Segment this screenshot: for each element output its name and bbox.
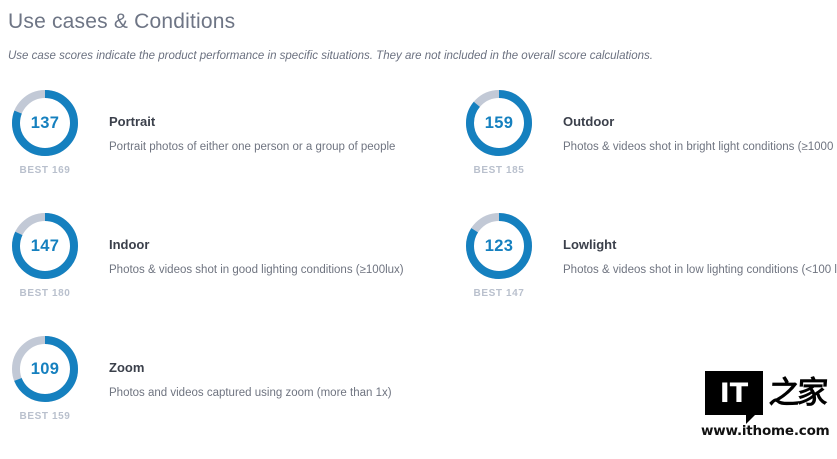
- best-score-label: BEST 159: [11, 411, 79, 422]
- donut-ring: 159: [466, 90, 532, 156]
- donut-ring: 147: [12, 213, 78, 279]
- ithome-logo-text: IT: [720, 380, 748, 407]
- use-case-description: Photos & videos shot in good lighting co…: [109, 254, 404, 278]
- use-case-portrait: 137 BEST 169 Portrait Portrait photos of…: [0, 90, 458, 213]
- best-score-label: BEST 169: [11, 165, 79, 176]
- best-score-label: BEST 185: [465, 165, 533, 176]
- use-case-description: Photos & videos shot in low lighting con…: [563, 254, 837, 278]
- speech-bubble-icon: IT: [705, 371, 763, 415]
- panel-header: Use cases & Conditions Use case scores i…: [8, 8, 828, 64]
- use-case-name: Zoom: [109, 359, 392, 377]
- use-case-indoor: 147 BEST 180 Indoor Photos & videos shot…: [0, 213, 458, 336]
- score-gauge: 109 BEST 159: [11, 336, 79, 422]
- use-case-description: Photos & videos shot in bright light con…: [563, 131, 837, 155]
- use-case-name: Outdoor: [563, 113, 837, 131]
- donut-ring: 109: [12, 336, 78, 402]
- score-gauge: 137 BEST 169: [11, 90, 79, 176]
- score-gauge: 147 BEST 180: [11, 213, 79, 299]
- donut-ring: 123: [466, 213, 532, 279]
- score-value: 159: [466, 90, 532, 156]
- use-case-description: Photos and videos captured using zoom (m…: [109, 377, 392, 401]
- use-case-name: Indoor: [109, 236, 404, 254]
- score-value: 137: [12, 90, 78, 156]
- page-subtitle: Use case scores indicate the product per…: [8, 36, 828, 64]
- best-score-label: BEST 180: [11, 288, 79, 299]
- ithome-url: www.ithome.com: [701, 419, 829, 439]
- use-case-text: Indoor Photos & videos shot in good ligh…: [79, 213, 404, 278]
- use-case-description: Portrait photos of either one person or …: [109, 131, 395, 155]
- speech-bubble-tail-icon: [746, 414, 756, 424]
- use-case-name: Lowlight: [563, 236, 837, 254]
- use-case-text: Portrait Portrait photos of either one p…: [79, 90, 395, 155]
- score-value: 147: [12, 213, 78, 279]
- best-score-label: BEST 147: [465, 288, 533, 299]
- score-gauge: 123 BEST 147: [465, 213, 533, 299]
- page-title: Use cases & Conditions: [8, 8, 828, 36]
- use-case-name: Portrait: [109, 113, 395, 131]
- use-cases-panel: Use cases & Conditions Use case scores i…: [0, 0, 837, 445]
- use-case-row: 147 BEST 180 Indoor Photos & videos shot…: [0, 213, 837, 336]
- use-case-lowlight: 123 BEST 147 Lowlight Photos & videos sh…: [458, 213, 837, 336]
- use-case-zoom: 109 BEST 159 Zoom Photos and videos capt…: [0, 336, 458, 459]
- score-gauge: 159 BEST 185: [465, 90, 533, 176]
- donut-ring: 137: [12, 90, 78, 156]
- use-case-row: 137 BEST 169 Portrait Portrait photos of…: [0, 90, 837, 213]
- score-value: 123: [466, 213, 532, 279]
- ithome-logo-cjk: 之家: [768, 378, 826, 409]
- use-case-outdoor: 159 BEST 185 Outdoor Photos & videos sho…: [458, 90, 837, 213]
- ithome-watermark: IT 之家 www.ithome.com: [701, 367, 829, 439]
- use-case-text: Zoom Photos and videos captured using zo…: [79, 336, 392, 401]
- ithome-logo: IT 之家: [701, 367, 829, 419]
- use-case-text: Lowlight Photos & videos shot in low lig…: [533, 213, 837, 278]
- score-value: 109: [12, 336, 78, 402]
- use-case-text: Outdoor Photos & videos shot in bright l…: [533, 90, 837, 155]
